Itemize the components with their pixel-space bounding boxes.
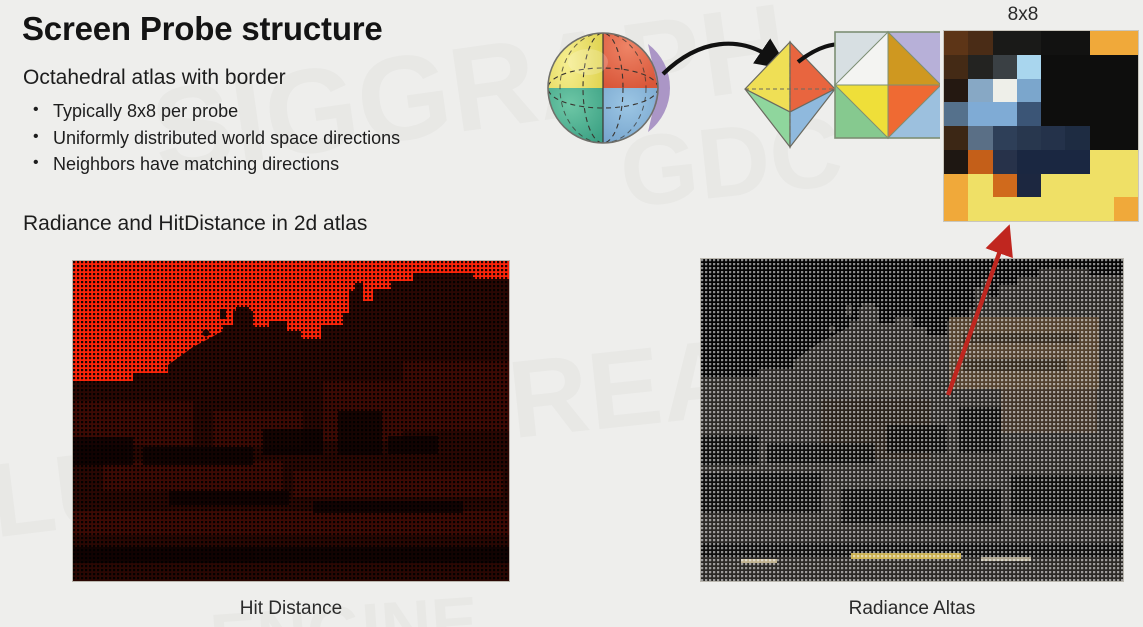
radiance-atlas <box>700 258 1124 582</box>
hit-distance-caption: Hit Distance <box>72 598 510 620</box>
atlas-pixel-0-4 <box>1041 31 1065 55</box>
atlas-pixel-0-7 <box>1114 31 1138 55</box>
bullet-list: • Typically 8x8 per probe • Uniformly di… <box>27 98 400 178</box>
atlas-pixel-2-2 <box>993 79 1017 103</box>
atlas-pixel-1-1 <box>968 55 992 79</box>
atlas-pixel-2-7 <box>1114 79 1138 103</box>
atlas-pixel-1-0 <box>944 55 968 79</box>
atlas-pixel-3-7 <box>1114 102 1138 126</box>
hit-distance-atlas <box>72 260 510 582</box>
atlas-pixel-5-5 <box>1065 150 1089 174</box>
list-item: • Typically 8x8 per probe <box>27 98 400 125</box>
slide-subheading: Octahedral atlas with border <box>23 66 286 90</box>
atlas-pixel-0-5 <box>1065 31 1089 55</box>
atlas-pixel-5-7 <box>1114 150 1138 174</box>
slide-secondary-line: Radiance and HitDistance in 2d atlas <box>23 212 367 236</box>
atlas-pixel-2-6 <box>1090 79 1114 103</box>
atlas-pixel-7-4 <box>1041 197 1065 221</box>
atlas-pixel-2-1 <box>968 79 992 103</box>
atlas-pixel-7-6 <box>1090 197 1114 221</box>
atlas-pixel-5-0 <box>944 150 968 174</box>
atlas-pixel-7-0 <box>944 197 968 221</box>
atlas-pixel-6-2 <box>993 174 1017 198</box>
bullet-dot-icon: • <box>33 98 39 122</box>
atlas-pixel-4-2 <box>993 126 1017 150</box>
atlas-pixel-0-1 <box>968 31 992 55</box>
atlas-pixel-6-6 <box>1090 174 1114 198</box>
atlas-pixel-6-1 <box>968 174 992 198</box>
atlas-tile-label: 8x8 <box>963 4 1083 26</box>
atlas-pixel-2-0 <box>944 79 968 103</box>
atlas-pixel-2-4 <box>1041 79 1065 103</box>
atlas-pixel-6-4 <box>1041 174 1065 198</box>
atlas-pixel-grid <box>944 31 1138 221</box>
atlas-pixel-4-1 <box>968 126 992 150</box>
atlas-pixel-1-5 <box>1065 55 1089 79</box>
atlas-pixel-2-3 <box>1017 79 1041 103</box>
atlas-tile-8x8 <box>943 30 1139 222</box>
atlas-pixel-4-3 <box>1017 126 1041 150</box>
list-item-label: Typically 8x8 per probe <box>53 101 238 121</box>
octahedral-mapping-diagram <box>540 14 940 174</box>
atlas-pixel-3-5 <box>1065 102 1089 126</box>
atlas-pixel-1-2 <box>993 55 1017 79</box>
atlas-pixel-5-3 <box>1017 150 1041 174</box>
atlas-pixel-5-2 <box>993 150 1017 174</box>
atlas-pixel-7-2 <box>993 197 1017 221</box>
atlas-pixel-4-4 <box>1041 126 1065 150</box>
atlas-pixel-6-3 <box>1017 174 1041 198</box>
atlas-pixel-1-3 <box>1017 55 1041 79</box>
atlas-pixel-0-3 <box>1017 31 1041 55</box>
atlas-pixel-5-4 <box>1041 150 1065 174</box>
atlas-pixel-3-4 <box>1041 102 1065 126</box>
atlas-pixel-3-1 <box>968 102 992 126</box>
atlas-pixel-7-3 <box>1017 197 1041 221</box>
atlas-pixel-3-3 <box>1017 102 1041 126</box>
atlas-pixel-2-5 <box>1065 79 1089 103</box>
atlas-pixel-1-6 <box>1090 55 1114 79</box>
list-item-label: Uniformly distributed world space direct… <box>53 128 400 148</box>
atlas-pixel-3-0 <box>944 102 968 126</box>
list-item-label: Neighbors have matching directions <box>53 154 339 174</box>
atlas-pixel-0-2 <box>993 31 1017 55</box>
list-item: • Neighbors have matching directions <box>27 151 400 178</box>
slide-title: Screen Probe structure <box>22 10 383 48</box>
atlas-pixel-7-5 <box>1065 197 1089 221</box>
atlas-pixel-4-5 <box>1065 126 1089 150</box>
atlas-pixel-4-0 <box>944 126 968 150</box>
atlas-pixel-5-1 <box>968 150 992 174</box>
hit-distance-dither <box>73 261 509 581</box>
atlas-pixel-6-0 <box>944 174 968 198</box>
atlas-pixel-7-7 <box>1114 197 1138 221</box>
atlas-pixel-4-6 <box>1090 126 1114 150</box>
atlas-pixel-0-6 <box>1090 31 1114 55</box>
radiance-atlas-caption: Radiance Altas <box>700 598 1124 620</box>
atlas-pixel-1-7 <box>1114 55 1138 79</box>
octahedron-glyph <box>745 42 835 147</box>
list-item: • Uniformly distributed world space dire… <box>27 125 400 152</box>
atlas-pixel-7-1 <box>968 197 992 221</box>
bullet-dot-icon: • <box>33 125 39 149</box>
atlas-pixel-0-0 <box>944 31 968 55</box>
atlas-pixel-3-6 <box>1090 102 1114 126</box>
atlas-pixel-6-5 <box>1065 174 1089 198</box>
atlas-pixel-5-6 <box>1090 150 1114 174</box>
atlas-pixel-4-7 <box>1114 126 1138 150</box>
sphere-glyph <box>548 33 670 143</box>
bullet-dot-icon: • <box>33 151 39 175</box>
atlas-pixel-6-7 <box>1114 174 1138 198</box>
atlas-pixel-1-4 <box>1041 55 1065 79</box>
octahedral-atlas-square <box>835 32 940 138</box>
radiance-dither <box>701 259 1123 581</box>
atlas-pixel-3-2 <box>993 102 1017 126</box>
